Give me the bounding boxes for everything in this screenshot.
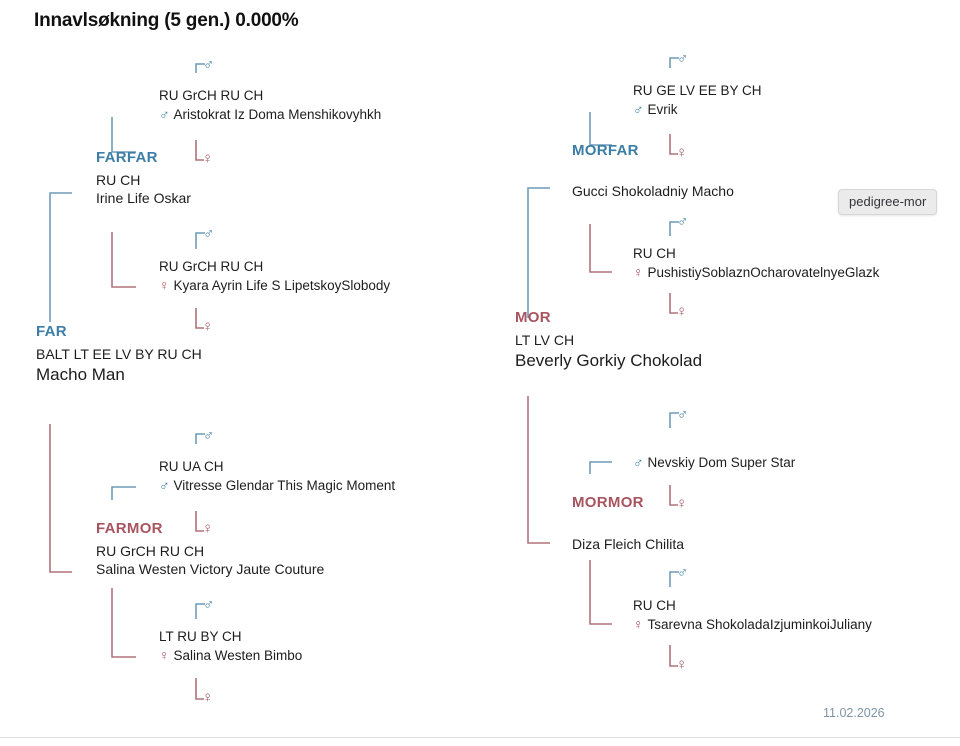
female-icon: ♀ bbox=[633, 616, 644, 632]
male-icon: ♂ bbox=[203, 57, 214, 72]
male-icon: ♂ bbox=[677, 407, 688, 422]
bottom-divider bbox=[0, 737, 960, 738]
male-icon: ♂ bbox=[633, 454, 644, 470]
female-icon: ♀ bbox=[633, 264, 644, 280]
female-icon: ♀ bbox=[159, 277, 170, 293]
page-title: Innavlsøkning (5 gen.) 0.000% bbox=[34, 10, 299, 32]
parent-titles: LT LV CH bbox=[515, 331, 702, 350]
role-label-morfar: MORFAR bbox=[572, 143, 639, 160]
ancestor-name-row: ♀PushistiySoblaznOcharovatelnyeGlazk bbox=[633, 263, 879, 282]
female-icon: ♀ bbox=[676, 657, 687, 672]
parent-name: Beverly Gorkiy Chokolad bbox=[515, 349, 702, 373]
ancestor-titles: RU UA CH bbox=[159, 458, 395, 476]
ancestor-titles: RU GrCH RU CH bbox=[159, 258, 390, 276]
ancestor-name: Vitresse Glendar This Magic Moment bbox=[174, 478, 396, 493]
footer-date: 11.02.2026 bbox=[823, 706, 885, 720]
ancestor-name-row: ♂Aristokrat Iz Doma Menshikovyhkh bbox=[159, 105, 381, 124]
ancestor-node-aristokrat[interactable]: RU GrCH RU CH ♂Aristokrat Iz Doma Menshi… bbox=[159, 87, 381, 124]
female-icon: ♀ bbox=[202, 690, 213, 705]
ancestor-node-nevskiy[interactable]: ♂Nevskiy Dom Super Star bbox=[633, 453, 795, 472]
ancestor-node-vitresse[interactable]: RU UA CH ♂Vitresse Glendar This Magic Mo… bbox=[159, 458, 395, 495]
role-label-farfar: FARFAR bbox=[96, 150, 191, 167]
grandparent-node-morfar[interactable]: MORFAR bbox=[572, 143, 639, 164]
ancestor-node-evrik[interactable]: RU GE LV EE BY CH ♂Evrik bbox=[633, 82, 762, 119]
ancestor-name: Kyara Ayrin Life S LipetskoySlobody bbox=[174, 278, 391, 293]
grandparent-node-farmor[interactable]: FARMOR RU GrCH RU CH Salina Westen Victo… bbox=[96, 521, 324, 579]
ancestor-node-salina-bimbo[interactable]: LT RU BY CH ♀Salina Westen Bimbo bbox=[159, 628, 302, 665]
ancestor-name: Nevskiy Dom Super Star bbox=[648, 455, 796, 470]
ancestor-name-row: ♀Salina Westen Bimbo bbox=[159, 646, 302, 665]
ancestor-titles: RU GrCH RU CH bbox=[159, 87, 381, 105]
grandparent-name: Gucci Shokoladniy Macho bbox=[572, 182, 734, 201]
ancestor-name-row: ♀Kyara Ayrin Life S LipetskoySlobody bbox=[159, 276, 390, 295]
role-label-mormor: MORMOR bbox=[572, 495, 644, 512]
ancestor-name-row: ♀Tsarevna ShokoladaIzjuminkoiJuliany bbox=[633, 615, 872, 634]
pedigree-chart: Innavlsøkning (5 gen.) 0.000% bbox=[0, 0, 960, 746]
male-icon: ♂ bbox=[633, 101, 644, 117]
male-icon: ♂ bbox=[677, 51, 688, 66]
parent-node-far[interactable]: FAR BALT LT EE LV BY RU CH Macho Man bbox=[36, 324, 202, 387]
grandparent-name: Irine Life Oskar bbox=[96, 189, 191, 208]
male-icon: ♂ bbox=[203, 226, 214, 241]
ancestor-node-kyara[interactable]: RU GrCH RU CH ♀Kyara Ayrin Life S Lipets… bbox=[159, 258, 390, 295]
ancestor-titles: RU CH bbox=[633, 597, 872, 615]
ancestor-name: Aristokrat Iz Doma Menshikovyhkh bbox=[174, 107, 382, 122]
grandparent-name-block-mormor[interactable]: Diza Fleich Chilita bbox=[572, 535, 684, 554]
ancestor-name: Evrik bbox=[648, 102, 678, 117]
ancestor-node-pushistiy[interactable]: RU CH ♀PushistiySoblaznOcharovatelnyeGla… bbox=[633, 245, 879, 282]
grandparent-name: Diza Fleich Chilita bbox=[572, 535, 684, 554]
ancestor-name: PushistiySoblaznOcharovatelnyeGlazk bbox=[648, 265, 880, 280]
female-icon: ♀ bbox=[159, 647, 170, 663]
female-icon: ♀ bbox=[202, 319, 213, 334]
female-icon: ♀ bbox=[202, 151, 213, 166]
male-icon: ♂ bbox=[159, 477, 170, 493]
parent-node-mor[interactable]: MOR LT LV CH Beverly Gorkiy Chokolad bbox=[515, 310, 702, 373]
ancestor-titles: RU GE LV EE BY CH bbox=[633, 82, 762, 100]
male-icon: ♂ bbox=[203, 428, 214, 443]
grandparent-name-block-morfar[interactable]: Gucci Shokoladniy Macho bbox=[572, 182, 734, 201]
parent-name: Macho Man bbox=[36, 363, 202, 387]
ancestor-name: Salina Westen Bimbo bbox=[174, 648, 303, 663]
role-label-far: FAR bbox=[36, 324, 202, 341]
grandparent-node-mormor[interactable]: MORMOR bbox=[572, 495, 644, 516]
male-icon: ♂ bbox=[677, 565, 688, 580]
ancestor-name: Tsarevna ShokoladaIzjuminkoiJuliany bbox=[648, 617, 872, 632]
grandparent-titles: RU CH bbox=[96, 171, 191, 190]
female-icon: ♀ bbox=[676, 145, 687, 160]
ancestor-name-row: ♂Evrik bbox=[633, 100, 762, 119]
parent-titles: BALT LT EE LV BY RU CH bbox=[36, 345, 202, 364]
ancestor-titles: LT RU BY CH bbox=[159, 628, 302, 646]
grandparent-titles: RU GrCH RU CH bbox=[96, 542, 324, 561]
female-icon: ♀ bbox=[676, 496, 687, 511]
male-icon: ♂ bbox=[159, 106, 170, 122]
ancestor-titles: RU CH bbox=[633, 245, 879, 263]
male-icon: ♂ bbox=[203, 597, 214, 612]
ancestor-node-tsarevna[interactable]: RU CH ♀Tsarevna ShokoladaIzjuminkoiJulia… bbox=[633, 597, 872, 634]
ancestor-name-row: ♂Nevskiy Dom Super Star bbox=[633, 453, 795, 472]
role-label-mor: MOR bbox=[515, 310, 702, 327]
ancestor-name-row: ♂Vitresse Glendar This Magic Moment bbox=[159, 476, 395, 495]
role-label-farmor: FARMOR bbox=[96, 521, 324, 538]
male-icon: ♂ bbox=[677, 214, 688, 229]
grandparent-name: Salina Westen Victory Jaute Couture bbox=[96, 560, 324, 579]
grandparent-node-farfar[interactable]: FARFAR RU CH Irine Life Oskar bbox=[96, 150, 191, 208]
tooltip-pedigree-mor: pedigree-mor bbox=[838, 189, 937, 215]
